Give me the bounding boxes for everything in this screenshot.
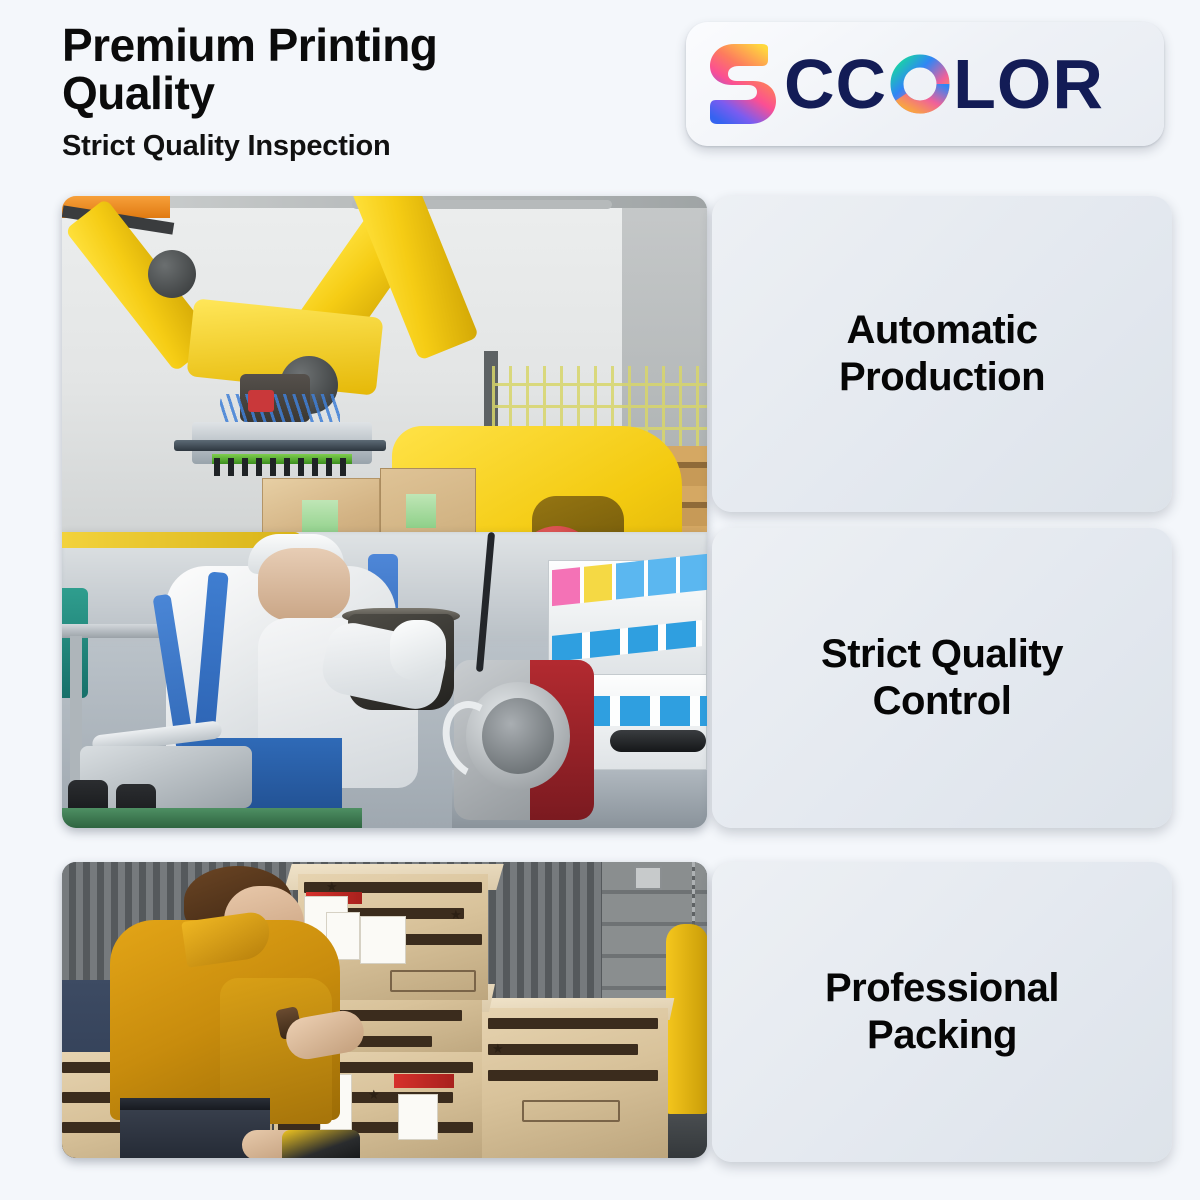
photo-automatic-production (62, 196, 707, 532)
logo-wordmark-prefix: CC (784, 49, 887, 119)
logo-wordmark-suffix: LOR (953, 49, 1104, 119)
feature-card-automatic-production[interactable]: Automatic Production (712, 196, 1172, 512)
inspection-line-scene (62, 532, 707, 828)
feature-card-strict-quality-control[interactable]: Strict Quality Control (712, 528, 1172, 828)
feature-label-line1: Professional (825, 965, 1059, 1012)
feature-card-label: Professional Packing (805, 965, 1079, 1059)
page-title-line2: Quality (62, 70, 662, 118)
brand-logo: CC LOR (686, 22, 1164, 146)
logo-color-ring-icon (889, 53, 951, 115)
feature-card-label: Strict Quality Control (801, 631, 1083, 725)
heading-group: Premium Printing Quality Strict Quality … (62, 22, 662, 163)
page-subtitle: Strict Quality Inspection (62, 130, 662, 163)
logo-wordmark: CC LOR (784, 49, 1104, 119)
sccolor-s-mark-icon (708, 42, 780, 126)
packing-warehouse-scene: ★ ★ ★ (62, 862, 707, 1158)
feature-label-line1: Strict Quality (821, 631, 1063, 678)
photo-quality-control (62, 532, 707, 828)
page-title-line1: Premium Printing (62, 22, 662, 70)
feature-label-line2: Packing (825, 1012, 1059, 1059)
page-title: Premium Printing Quality (62, 22, 662, 118)
feature-label-line1: Automatic (839, 307, 1045, 354)
robot-factory-scene (62, 196, 707, 532)
photo-professional-packing: ★ ★ ★ (62, 862, 707, 1158)
feature-label-line2: Production (839, 354, 1045, 401)
feature-card-label: Automatic Production (819, 307, 1065, 401)
feature-card-professional-packing[interactable]: Professional Packing (712, 862, 1172, 1162)
feature-label-line2: Control (821, 678, 1063, 725)
header: Premium Printing Quality Strict Quality … (0, 0, 1200, 192)
